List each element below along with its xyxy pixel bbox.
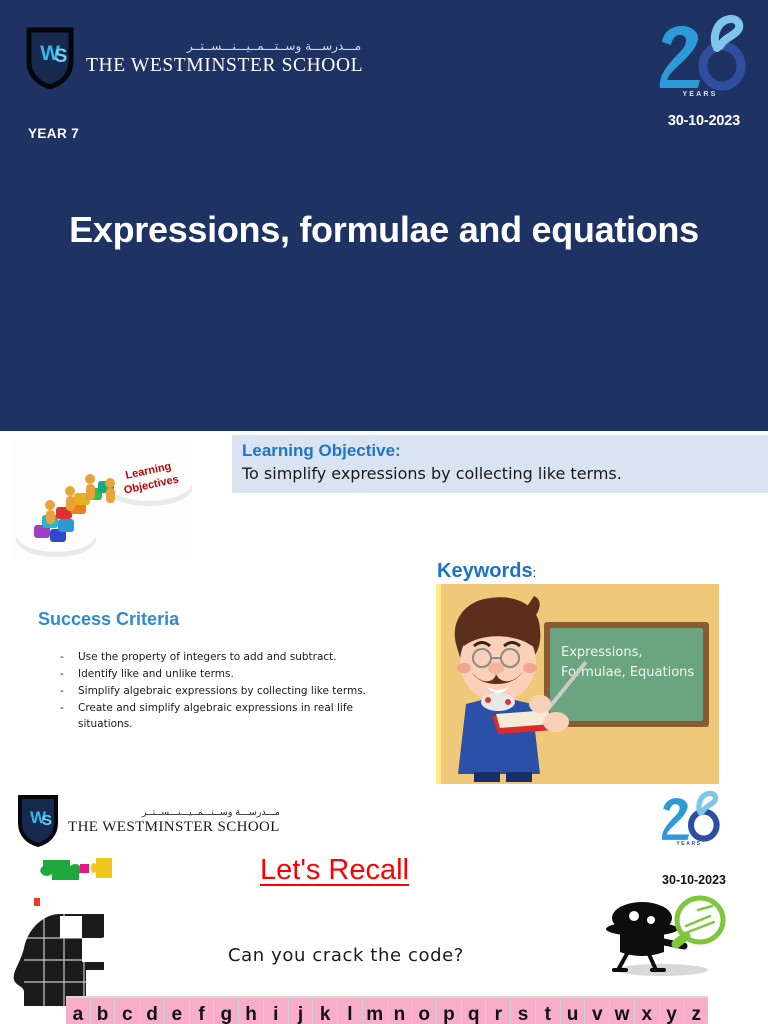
success-criteria-item: - Identify like and unlike terms.: [60, 667, 405, 683]
school-name-english: THE WESTMINSTER SCHOOL: [68, 820, 280, 835]
learning-objectives-illustration: Learning Objectives: [12, 439, 192, 561]
school-logo-lockup: W S مـــدرســـة وســتـــمــيـــنـــســتـ…: [26, 27, 363, 89]
alphabet-cell-v[interactable]: v: [585, 998, 610, 1024]
learning-objective-heading: Learning Objective:: [242, 440, 768, 463]
school-name-block: مـــدرســـة وســتـــمــيـــنـــســتــر T…: [86, 40, 363, 76]
alphabet-strip: abcdefghijklmnopqrstuvwxyz: [66, 996, 708, 1024]
learning-objective-box: Learning Objective: To simplify expressi…: [232, 435, 768, 493]
svg-text:S: S: [55, 46, 68, 67]
alphabet-cell-m[interactable]: m: [363, 998, 388, 1024]
school-name-english: THE WESTMINSTER SCHOOL: [86, 56, 363, 76]
alphabet-cell-t[interactable]: t: [536, 998, 561, 1024]
alphabet-cell-e[interactable]: e: [165, 998, 190, 1024]
badge-years-caption: YEARS: [658, 841, 720, 847]
alphabet-cell-a[interactable]: a: [66, 998, 91, 1024]
alphabet-cell-s[interactable]: s: [511, 998, 536, 1024]
alphabet-cell-u[interactable]: u: [561, 998, 586, 1024]
keywords-heading: Keywords:: [437, 560, 536, 583]
keywords-teacher-illustration: Expressions, Formulae, Equations: [436, 584, 719, 784]
alphabet-cell-q[interactable]: q: [462, 998, 487, 1024]
success-criteria-item: - Simplify algebraic expressions by coll…: [60, 684, 405, 700]
detective-magnifier-illustration: [606, 894, 728, 980]
slide3-date: 30-10-2023: [662, 873, 726, 887]
westminster-shield-icon: W S: [18, 795, 58, 847]
alphabet-cell-w[interactable]: w: [610, 998, 635, 1024]
anniversary-28-years-badge: YEARS: [654, 14, 746, 100]
alphabet-cell-j[interactable]: j: [289, 998, 314, 1024]
alphabet-cell-r[interactable]: r: [486, 998, 511, 1024]
school-name-arabic: مـــدرســـة وســتـــمــيـــنـــســتــر: [86, 40, 363, 55]
svg-text:S: S: [42, 812, 52, 829]
alphabet-cell-g[interactable]: g: [214, 998, 239, 1024]
success-criteria-item-text: Identify like and unlike terms.: [78, 667, 234, 683]
alphabet-cell-i[interactable]: i: [264, 998, 289, 1024]
anniversary-28-years-badge: YEARS: [658, 790, 720, 848]
westminster-shield-icon: W S: [26, 27, 74, 89]
bullet-dash: -: [60, 667, 68, 683]
learning-objective-slide: Learning Objectives: [0, 431, 768, 786]
crack-the-code-prompt: Can you crack the code?: [228, 945, 464, 966]
alphabet-cell-l[interactable]: l: [338, 998, 363, 1024]
learning-objective-text: To simplify expressions by collecting li…: [242, 463, 768, 485]
alphabet-cell-z[interactable]: z: [684, 998, 708, 1024]
svg-text:Expressions,: Expressions,: [561, 645, 642, 660]
school-name-arabic: مـــدرســـة وســتـــمــيـــنـــســتــر: [68, 808, 280, 820]
badge-years-caption: YEARS: [654, 91, 746, 98]
title-slide: W S مـــدرســـة وســتـــمــيـــنـــســتـ…: [0, 0, 768, 431]
school-name-block-2: مـــدرســـة وســتـــمــيـــنـــســتــر T…: [68, 808, 280, 835]
success-criteria-item: - Use the property of integers to add an…: [60, 650, 405, 666]
bullet-dash: -: [60, 701, 68, 733]
deck-title: Expressions, formulae and equations: [60, 208, 708, 253]
school-logo-lockup-2: W S مـــدرســـة وســتـــمــيـــنـــســتـ…: [18, 795, 280, 847]
bullet-dash: -: [60, 684, 68, 700]
success-criteria-item-text: Create and simplify algebraic expression…: [78, 701, 405, 733]
keywords-heading-label: Keywords: [437, 560, 533, 582]
success-criteria-item: - Create and simplify algebraic expressi…: [60, 701, 405, 733]
bullet-dash: -: [60, 650, 68, 666]
alphabet-cell-p[interactable]: p: [437, 998, 462, 1024]
success-criteria-item-text: Use the property of integers to add and …: [78, 650, 337, 666]
alphabet-cell-y[interactable]: y: [660, 998, 685, 1024]
alphabet-cell-o[interactable]: o: [412, 998, 437, 1024]
puzzle-head-illustration: [8, 852, 140, 1012]
lets-recall-slide: W S مـــدرســـة وســتـــمــيـــنـــســتـ…: [0, 786, 768, 1024]
alphabet-cell-f[interactable]: f: [190, 998, 215, 1024]
alphabet-cell-n[interactable]: n: [388, 998, 413, 1024]
alphabet-cell-x[interactable]: x: [635, 998, 660, 1024]
lets-recall-title: Let's Recall: [260, 854, 409, 887]
success-criteria-list: - Use the property of integers to add an…: [60, 650, 405, 734]
alphabet-cell-k[interactable]: k: [313, 998, 338, 1024]
alphabet-cell-c[interactable]: c: [115, 998, 140, 1024]
keywords-heading-colon: :: [533, 565, 537, 580]
success-criteria-heading: Success Criteria: [38, 609, 179, 630]
slide1-date: 30-10-2023: [668, 113, 740, 129]
success-criteria-item-text: Simplify algebraic expressions by collec…: [78, 684, 366, 700]
alphabet-cell-h[interactable]: h: [239, 998, 264, 1024]
alphabet-cell-b[interactable]: b: [91, 998, 116, 1024]
alphabet-cell-d[interactable]: d: [140, 998, 165, 1024]
year-group-label: YEAR 7: [28, 126, 79, 141]
